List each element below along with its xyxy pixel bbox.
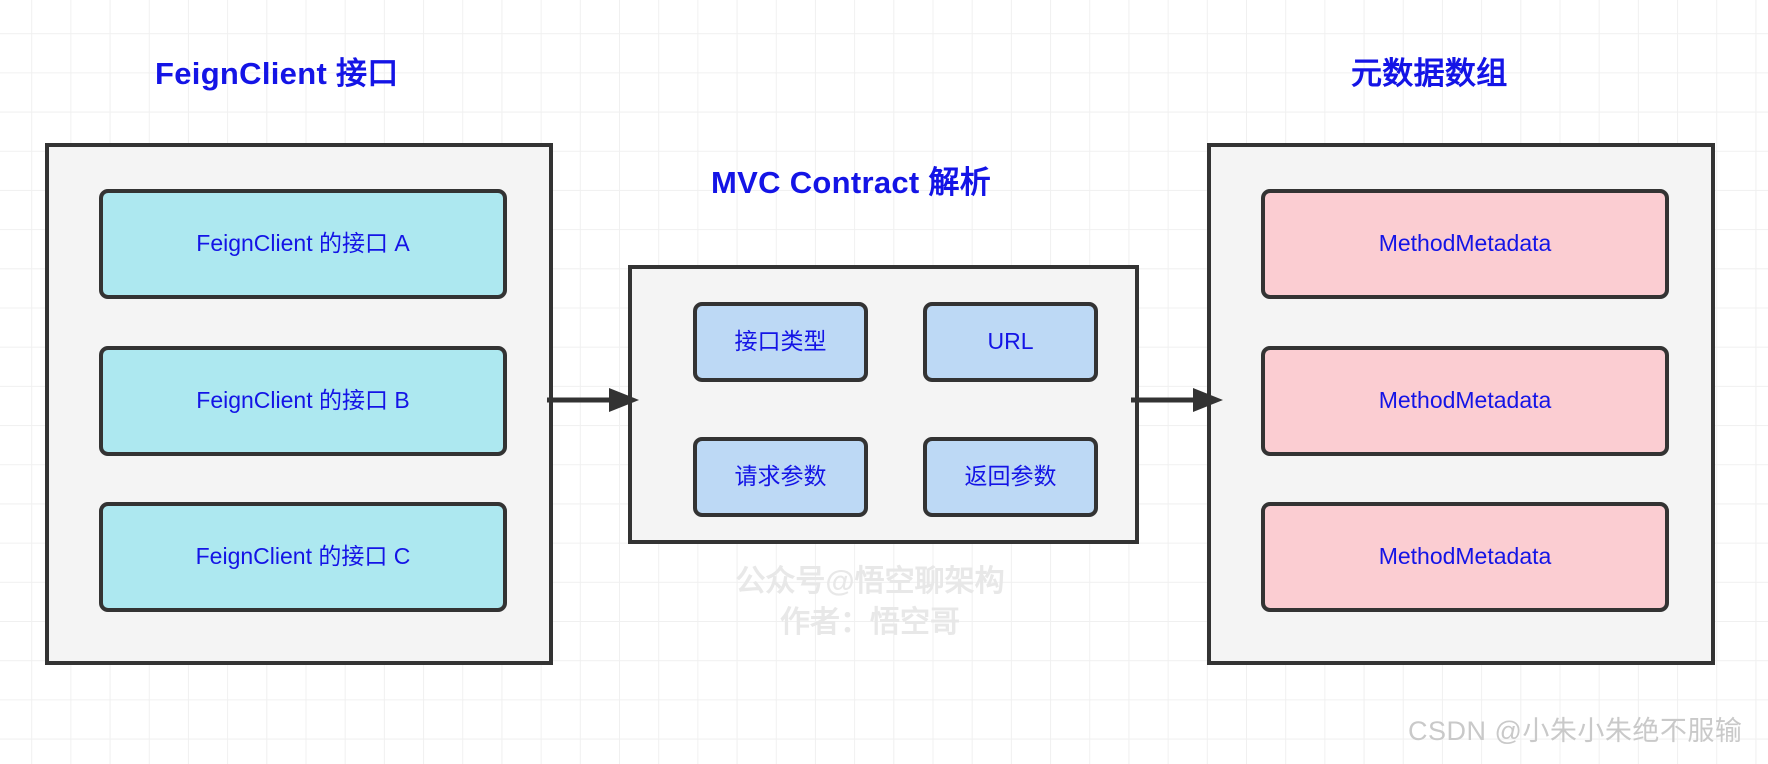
middle-column-title: MVC Contract 解析 <box>711 167 991 198</box>
watermark-line-1: 公众号@悟空聊架构 <box>660 561 1080 602</box>
node-request-params[interactable]: 请求参数 <box>693 437 868 517</box>
node-method-metadata-2[interactable]: MethodMetadata <box>1261 346 1669 456</box>
node-method-metadata-3[interactable]: MethodMetadata <box>1261 502 1669 612</box>
node-response-params[interactable]: 返回参数 <box>923 437 1098 517</box>
node-label: FeignClient 的接口 B <box>196 387 409 415</box>
node-feignclient-interface-b[interactable]: FeignClient 的接口 B <box>99 346 507 456</box>
mvc-contract-parse-container: 接口类型 URL 请求参数 返回参数 <box>628 265 1139 544</box>
node-url[interactable]: URL <box>923 302 1098 382</box>
watermark: 公众号@悟空聊架构 作者：悟空哥 <box>660 561 1080 644</box>
node-feignclient-interface-c[interactable]: FeignClient 的接口 C <box>99 502 507 612</box>
node-interface-type[interactable]: 接口类型 <box>693 302 868 382</box>
node-label: 请求参数 <box>735 463 827 491</box>
arrow-right-icon-middle-to-right <box>1131 385 1223 415</box>
node-label: 接口类型 <box>735 328 827 356</box>
node-label: FeignClient 的接口 C <box>196 543 411 571</box>
left-column-title: FeignClient 接口 <box>155 58 399 89</box>
right-column-title: 元数据数组 <box>1351 58 1508 89</box>
node-label: 返回参数 <box>965 463 1057 491</box>
metadata-array-container: MethodMetadata MethodMetadata MethodMeta… <box>1207 143 1715 665</box>
node-label: FeignClient 的接口 A <box>196 230 409 258</box>
watermark-line-2: 作者：悟空哥 <box>660 602 1080 643</box>
csdn-credit: CSDN @小朱小朱绝不服输 <box>1408 709 1742 748</box>
diagram-canvas: FeignClient 接口 MVC Contract 解析 元数据数组 Fei… <box>0 0 1768 764</box>
node-feignclient-interface-a[interactable]: FeignClient 的接口 A <box>99 189 507 299</box>
node-label: URL <box>987 328 1033 356</box>
node-label: MethodMetadata <box>1379 387 1552 415</box>
feignclient-interfaces-container: FeignClient 的接口 A FeignClient 的接口 B Feig… <box>45 143 553 665</box>
node-label: MethodMetadata <box>1379 230 1552 258</box>
arrow-right-icon-left-to-middle <box>547 385 639 415</box>
node-method-metadata-1[interactable]: MethodMetadata <box>1261 189 1669 299</box>
node-label: MethodMetadata <box>1379 543 1552 571</box>
